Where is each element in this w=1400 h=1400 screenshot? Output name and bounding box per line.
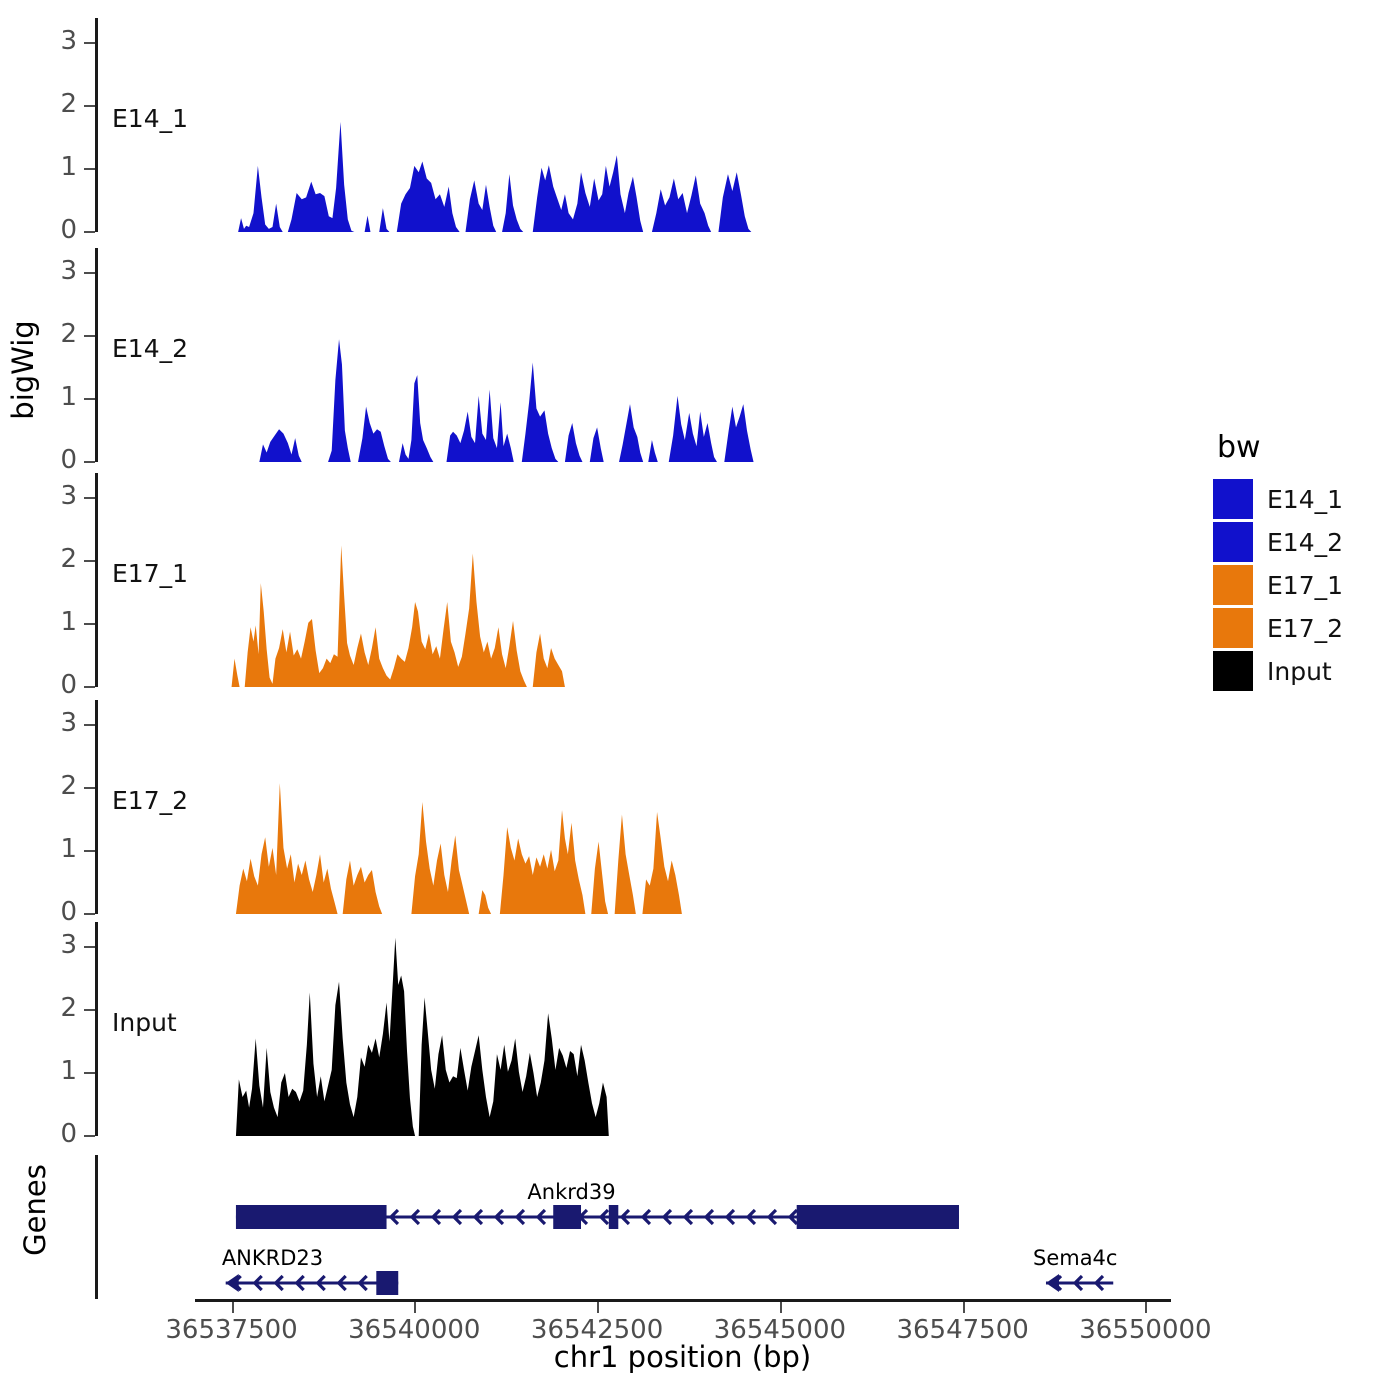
legend-swatch-icon	[1213, 565, 1253, 605]
gene-label-ankrd39: Ankrd39	[527, 1180, 615, 1204]
gene-exon	[376, 1271, 398, 1295]
legend-item-e14_2[interactable]: E14_2	[1213, 522, 1343, 562]
x-tick-label: 36550000	[1079, 1315, 1211, 1345]
gene-exon	[797, 1205, 959, 1229]
x-tick-label: 36547500	[896, 1315, 1028, 1345]
x-tick-label: 36537500	[165, 1315, 297, 1345]
coverage-area-e14_2	[0, 248, 1400, 462]
legend-item-input[interactable]: Input	[1213, 651, 1343, 691]
legend-swatch-icon	[1213, 479, 1253, 519]
coverage-area-input	[0, 922, 1400, 1136]
coverage-area-e14_1	[0, 18, 1400, 232]
legend-label: E17_1	[1267, 571, 1343, 600]
gene-exon	[609, 1205, 619, 1229]
gene-exon	[236, 1205, 387, 1229]
legend-swatch-icon	[1213, 651, 1253, 691]
x-axis-title: chr1 position (bp)	[195, 1340, 1170, 1374]
x-tick	[780, 1302, 782, 1313]
track-panel-e17_2: 0123E17_2	[0, 700, 1400, 914]
gene-label-ankrd23: ANKRD23	[222, 1246, 323, 1270]
legend-item-e17_2[interactable]: E17_2	[1213, 608, 1343, 648]
legend-swatch-icon	[1213, 522, 1253, 562]
legend-label: Input	[1267, 657, 1332, 686]
track-panel-input: 0123Input	[0, 922, 1400, 1136]
legend-item-e17_1[interactable]: E17_1	[1213, 565, 1343, 605]
gene-models: Ankrd39ANKRD23Sema4c	[0, 1155, 1400, 1299]
x-tick-label: 36542500	[531, 1315, 663, 1345]
x-tick	[597, 1302, 599, 1313]
coverage-area-e17_1	[0, 473, 1400, 687]
gene-ankrd23: ANKRD23	[222, 1246, 398, 1295]
x-tick	[232, 1302, 234, 1313]
legend-label: E17_2	[1267, 614, 1343, 643]
gene-sema4c: Sema4c	[1033, 1246, 1117, 1292]
legend-label: E14_1	[1267, 485, 1343, 514]
x-tick-label: 36540000	[348, 1315, 480, 1345]
track-panel-e17_1: 0123E17_1	[0, 473, 1400, 687]
legend-swatch-icon	[1213, 608, 1253, 648]
gene-label-sema4c: Sema4c	[1033, 1246, 1117, 1270]
gene-ankrd39: Ankrd39	[236, 1180, 959, 1229]
track-panel-e14_2: 0123E14_2	[0, 248, 1400, 462]
legend-items: E14_1E14_2E17_1E17_2Input	[1213, 479, 1343, 691]
track-panel-e14_1: 0123E14_1	[0, 18, 1400, 232]
x-tick	[1145, 1302, 1147, 1313]
legend-item-e14_1[interactable]: E14_1	[1213, 479, 1343, 519]
legend-label: E14_2	[1267, 528, 1343, 557]
x-axis-line	[195, 1299, 1171, 1302]
x-tick	[414, 1302, 416, 1313]
legend: bw E14_1E14_2E17_1E17_2Input	[1213, 430, 1343, 694]
legend-title: bw	[1217, 430, 1343, 465]
x-tick	[963, 1302, 965, 1313]
gene-exon	[553, 1205, 581, 1229]
x-tick-label: 36545000	[714, 1315, 846, 1345]
coverage-area-e17_2	[0, 700, 1400, 914]
